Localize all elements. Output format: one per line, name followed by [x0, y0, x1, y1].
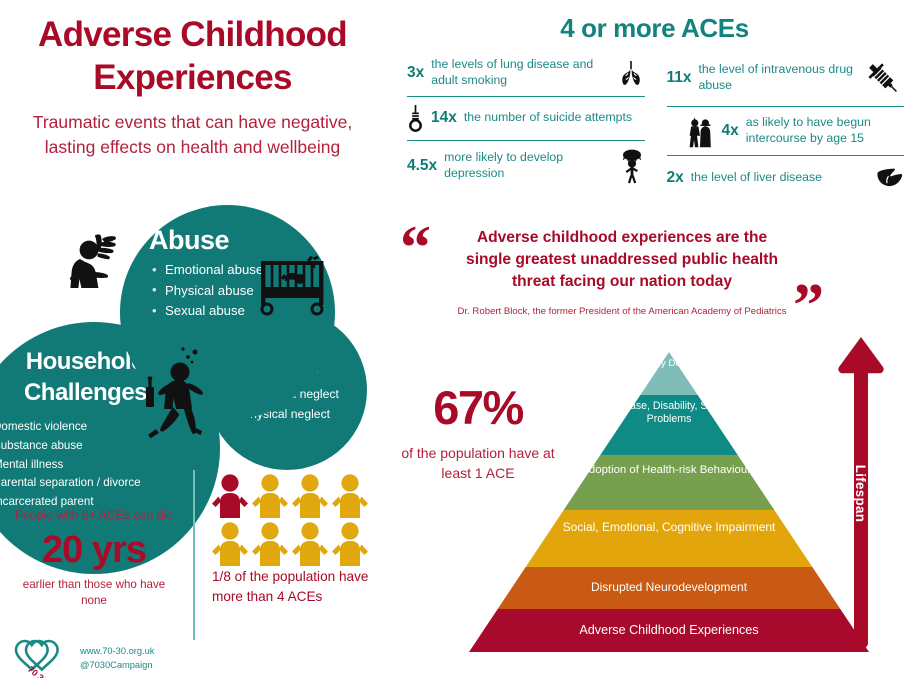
pictogram-row — [210, 472, 370, 520]
lifespan-stat-tail: earlier than those who have none — [0, 577, 188, 610]
quote-text: Adverse childhood experiences are the si… — [457, 227, 787, 293]
vertical-divider — [193, 470, 195, 640]
person-figure — [210, 520, 250, 568]
lifespan-stat-value: 20 yrs — [0, 529, 188, 572]
stat-description: more likely to develop depression — [444, 150, 611, 182]
stat-multiplier: 14x — [431, 109, 457, 127]
depressed-person-icon — [619, 148, 645, 184]
stat-row: 4.5x more likely to develop depression — [407, 141, 645, 191]
person-figure — [290, 472, 330, 520]
list-item: Substance abuse — [0, 437, 141, 456]
list-item: Emotional abuse — [152, 260, 263, 281]
lifespan-arrow-icon — [838, 337, 884, 649]
crouching-person-icon — [62, 228, 138, 309]
aces-stats-grid: 3x the levels of lung disease and adult … — [407, 50, 904, 200]
footer: 70 30 www.70-30.org.uk @7030Campaign — [8, 634, 154, 682]
list-item: Sexual abuse — [152, 301, 263, 322]
category-item-list: Emotional abuse Physical abuse Sexual ab… — [152, 260, 263, 322]
pyramid-tier-shape — [600, 395, 737, 455]
list-item: Mental illness — [0, 456, 141, 475]
stat-description: the level of intravenous drug abuse — [699, 62, 855, 94]
lungs-icon — [617, 60, 645, 86]
list-item: Parental separation / divorce — [0, 474, 141, 493]
stat-multiplier: 11x — [667, 69, 692, 87]
page-subtitle: Traumatic events that can have negative,… — [0, 110, 385, 160]
lifespan-stat-block: People with 6+ ACEs can die 20 yrs earli… — [0, 508, 188, 610]
footer-links: www.70-30.org.uk @7030Campaign — [80, 645, 154, 673]
population-stat-caption: 1/8 of the population have more than 4 A… — [212, 567, 388, 606]
lifespan-stat-lead: People with 6+ ACEs can die — [0, 508, 188, 522]
stat-multiplier: 2x — [667, 169, 684, 187]
liver-icon — [874, 167, 904, 189]
pyramid-tier-shape — [564, 455, 775, 510]
syringe-icon — [862, 57, 904, 99]
pyramid-tier-shape — [498, 567, 841, 609]
stat-row: 3x the levels of lung disease and adult … — [407, 50, 645, 97]
pyramid-shape — [469, 352, 869, 652]
pyramid-tier-shape — [526, 510, 813, 567]
quote-close-icon: ” — [793, 275, 824, 337]
list-item: Physical abuse — [152, 281, 263, 302]
stat-multiplier: 4x — [722, 122, 739, 140]
list-item: Domestic violence — [0, 418, 141, 437]
stat-multiplier: 3x — [407, 64, 424, 82]
aces-pyramid: Early Death Disease, Disability, Social … — [469, 352, 869, 652]
person-figure — [250, 520, 290, 568]
infographic-canvas: Adverse Childhood Experiences Traumatic … — [0, 0, 909, 682]
person-figure — [290, 520, 330, 568]
stats-column-right: 11x the level of intravenous drug abuse — [667, 50, 905, 200]
stat-description: as likely to have begun intercourse by a… — [746, 115, 904, 147]
quote-block: “ Adverse childhood experiences are the … — [395, 215, 909, 340]
crib-icon — [255, 255, 333, 322]
quote-open-icon: “ — [400, 217, 431, 279]
person-figure — [330, 520, 370, 568]
stat-description: the number of suicide attempts — [464, 110, 645, 126]
noose-icon — [407, 104, 424, 132]
stat-row: 2x the level of liver disease — [667, 156, 905, 200]
stats-column-left: 3x the levels of lung disease and adult … — [407, 50, 645, 200]
page-title: Adverse Childhood Experiences — [0, 14, 385, 99]
drinking-person-icon — [140, 343, 218, 444]
stat-row: 4x as likely to have begun intercourse b… — [667, 107, 905, 156]
pyramid-tier-shape — [469, 609, 869, 652]
pictogram-row — [210, 520, 370, 568]
couple-icon — [667, 114, 715, 148]
stat-multiplier: 4.5x — [407, 157, 437, 175]
stat-row: 14x the number of suicide attempts — [407, 97, 645, 141]
category-title: Abuse — [149, 225, 229, 256]
stat-description: the level of liver disease — [691, 170, 867, 186]
category-item-list: Domestic violence Substance abuse Mental… — [0, 418, 141, 512]
population-pictogram — [210, 472, 370, 568]
person-figure — [250, 472, 290, 520]
person-figure — [330, 472, 370, 520]
social-handle[interactable]: @7030Campaign — [80, 659, 154, 673]
pyramid-tier-shape — [640, 352, 697, 395]
stat-description: the levels of lung disease and adult smo… — [431, 57, 609, 89]
aces-section-heading: 4 or more ACEs — [400, 13, 909, 44]
website-link[interactable]: www.70-30.org.uk — [80, 645, 154, 659]
person-figure-highlighted — [210, 472, 250, 520]
title-block: Adverse Childhood Experiences Traumatic … — [0, 14, 385, 160]
stat-row: 11x the level of intravenous drug abuse — [667, 50, 905, 107]
quote-attribution: Dr. Robert Block, the former President o… — [457, 305, 787, 318]
70-30-heart-logo: 70 30 — [8, 634, 66, 682]
